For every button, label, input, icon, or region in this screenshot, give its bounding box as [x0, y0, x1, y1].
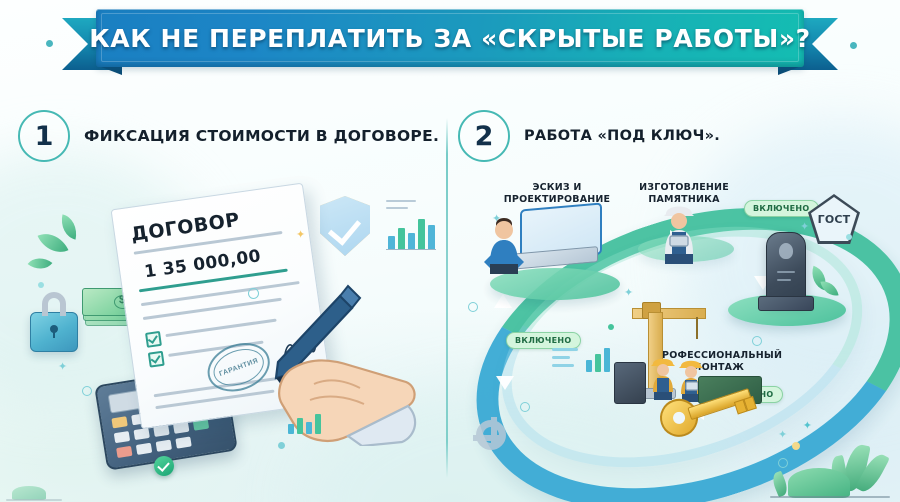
mini-bar-chart-icon — [288, 406, 346, 434]
spark-icon: ✦ — [800, 222, 809, 233]
stamp-text: ГАРАНТИЯ — [218, 357, 259, 378]
person-installer-icon — [648, 354, 678, 400]
monument-stone — [766, 232, 806, 302]
plant-leaf-icon — [58, 214, 80, 239]
column-divider — [446, 118, 448, 478]
dot-icon — [608, 324, 614, 330]
section-one-header: 1 ФИКСАЦИЯ СТОИМОСТИ В ДОГОВОРЕ. — [18, 108, 438, 164]
crane-hook — [696, 317, 698, 339]
gear-icon — [476, 420, 506, 450]
ring-dot-icon — [468, 302, 478, 312]
gost-label: ГОСТ — [818, 213, 851, 226]
section-number-2: 2 — [458, 110, 510, 162]
dot-gold-icon — [792, 442, 800, 450]
section-one-heading: ФИКСАЦИЯ СТОИМОСТИ В ДОГОВОРЕ. — [84, 127, 439, 145]
illustration-turnkey: ЭСКИЗ И ПРОЕКТИРОВАНИЕ ИЗГОТОВЛЕНИЕ ПАМЯ… — [462, 176, 892, 476]
person-worker-icon — [656, 198, 702, 264]
monument-pedestal — [758, 296, 814, 311]
stage-label-design: ЭСКИЗ И ПРОЕКТИРОВАНИЕ — [492, 182, 622, 206]
ring-dot-icon — [248, 288, 259, 299]
spark-icon: ✦ — [58, 362, 67, 373]
gost-pentagon-icon: ГОСТ — [808, 194, 860, 244]
section-two-heading: РАБОТА «ПОД КЛЮЧ». — [524, 128, 720, 144]
check-badge-icon — [154, 456, 174, 476]
ring-dot-icon — [752, 336, 762, 346]
section-one: 1 ФИКСАЦИЯ СТОИМОСТИ В ДОГОВОРЕ. — [18, 108, 438, 164]
plant-leaf-small-icon — [28, 251, 53, 275]
lock-icon — [30, 312, 78, 352]
section-number-1: 1 — [18, 110, 70, 162]
granite-block-icon — [614, 362, 646, 404]
illustration-contract: $ — [20, 170, 440, 480]
section-two-header: 2 РАБОТА «ПОД КЛЮЧ». — [458, 108, 884, 164]
title-ribbon: КАК НЕ ПЕРЕПЛАТИТЬ ЗА «СКРЫТЫЕ РАБОТЫ»? — [62, 9, 838, 71]
page-title: КАК НЕ ПЕРЕПЛАТИТЬ ЗА «СКРЫТЫЕ РАБОТЫ»? — [89, 24, 811, 53]
bar-chart-icon — [386, 198, 436, 250]
ring-dot-icon — [778, 458, 788, 468]
dot-icon — [846, 234, 852, 240]
spark-icon: ✦ — [624, 288, 633, 299]
lock-keyhole — [50, 325, 58, 333]
monument-portrait — [779, 243, 793, 259]
spark-icon: ✦ — [492, 214, 501, 225]
ring-dot-icon — [82, 386, 92, 396]
mini-bar-chart-icon — [552, 344, 610, 372]
lock-shackle — [42, 292, 66, 316]
dot-icon — [38, 282, 44, 288]
foliage-left — [6, 472, 66, 502]
spark-gold-icon: ✦ — [296, 230, 305, 241]
ring-dot-icon — [520, 402, 530, 412]
person-designer-icon — [480, 210, 528, 274]
cycle-arrowhead-left — [494, 294, 512, 308]
ribbon-dot-left — [46, 40, 53, 47]
monument-icon — [758, 232, 812, 316]
ribbon-dot-right — [850, 42, 857, 49]
infographic-canvas: КАК НЕ ПЕРЕПЛАТИТЬ ЗА «СКРЫТЫЕ РАБОТЫ»? … — [0, 0, 900, 502]
cycle-arrowhead-bottom-left — [496, 376, 514, 390]
dot-icon — [278, 442, 285, 449]
shield-check-icon — [320, 196, 370, 256]
foliage-right — [770, 438, 890, 502]
ribbon-plate: КАК НЕ ПЕРЕПЛАТИТЬ ЗА «СКРЫТЫЕ РАБОТЫ»? — [96, 9, 804, 67]
spark-icon: ✦ — [803, 421, 812, 432]
section-two: 2 РАБОТА «ПОД КЛЮЧ». — [458, 108, 884, 164]
